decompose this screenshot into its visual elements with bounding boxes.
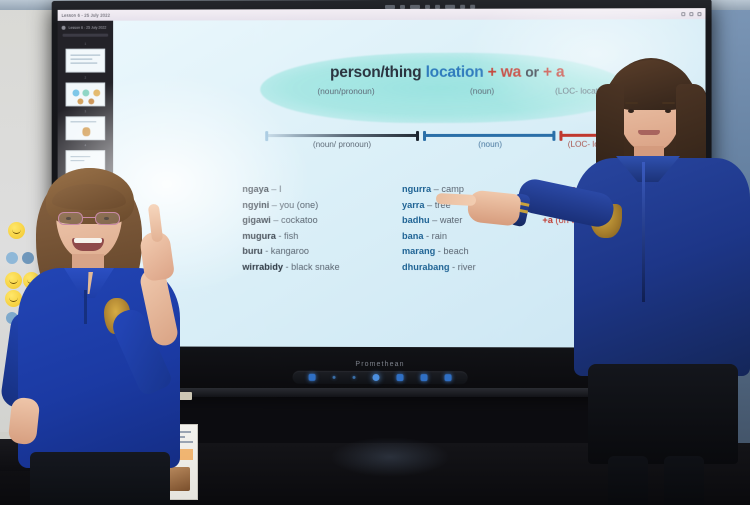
glasses [57,212,121,225]
eyebrow [662,102,675,104]
headline-plus-wa: + wa [488,64,521,81]
sidebar-title: Lesson 6 - 25 July 2022 [69,26,107,30]
floor-light-flare [330,437,450,477]
window-controls[interactable] [681,12,701,16]
vocab-entry: ngyini – you (one) [242,198,402,214]
home-button[interactable] [445,374,452,381]
vocab-entry: marang - beach [402,244,542,260]
eye [665,109,671,113]
skirt [588,364,738,464]
sidebar-progress-bar [63,34,109,37]
skirt [30,452,170,505]
maximize-icon[interactable] [689,12,693,16]
volume-button[interactable] [421,374,428,381]
input-source-button[interactable] [397,374,404,381]
vocab-entry: bana - rain [402,229,542,245]
subheading-noun: (noun) [430,86,534,96]
close-icon[interactable] [697,12,701,16]
menu-icon[interactable] [62,26,66,30]
bracket-person-thing [266,134,418,137]
subheading-noun-pronoun: (noun/pronoun) [262,86,430,96]
jacket-zip [642,162,645,302]
school-jacket [574,158,750,376]
eyebrow [625,102,638,104]
app-title: Lesson 6 - 25 July 2022 [62,13,111,18]
sidebar-header: Lesson 6 - 25 July 2022 [58,26,113,34]
vocab-entry: buru - kangaroo [242,244,402,260]
slide-number: 4 [85,143,87,147]
smiling-mouth [72,238,104,251]
bracket-location [424,134,554,137]
indicator-dot-icon [332,376,335,379]
slide-thumbnail[interactable] [66,82,106,106]
menu-button[interactable] [308,374,315,381]
indicator-dot-icon [352,376,355,379]
bracket-label-noun-pronoun: (noun/ pronoun) [262,140,422,149]
power-button[interactable] [372,374,379,381]
student-right [560,58,750,505]
vocab-column-person-thing: ngaya – I ngyini – you (one) gigawi [242,182,402,276]
headline-person-thing: person/thing [330,64,421,81]
leg [608,456,648,505]
slide-number: 1 [85,42,87,46]
slide-thumbnail[interactable] [66,116,106,140]
classroom-scene: Lesson 6 - 25 July 2022 Lesson 6 - 25 Ju… [0,0,750,505]
panel-control-bar[interactable] [293,371,468,384]
headline-or: or [525,64,539,80]
vocab-entry: wirrabidy - black snake [242,260,402,276]
slide-number: 2 [85,76,87,80]
bracket-label-noun: (noun) [422,140,558,149]
student-left [0,160,215,505]
slide-number: 3 [85,109,87,113]
vocab-entry: ngaya – I [242,182,402,198]
pointing-hand [466,189,521,226]
slide-thumbnail[interactable] [66,49,106,73]
headline-location: location [426,64,484,81]
vocab-entry: gigawi – cockatoo [242,213,402,229]
eye [628,109,634,113]
vocab-entry: dhurabang - river [402,260,542,276]
pointing-finger [436,193,477,206]
vocab-entry: mugura - fish [242,229,402,245]
minimize-icon[interactable] [681,12,685,16]
leg [664,456,704,505]
mouth [638,130,660,135]
polo-placket [84,290,87,324]
